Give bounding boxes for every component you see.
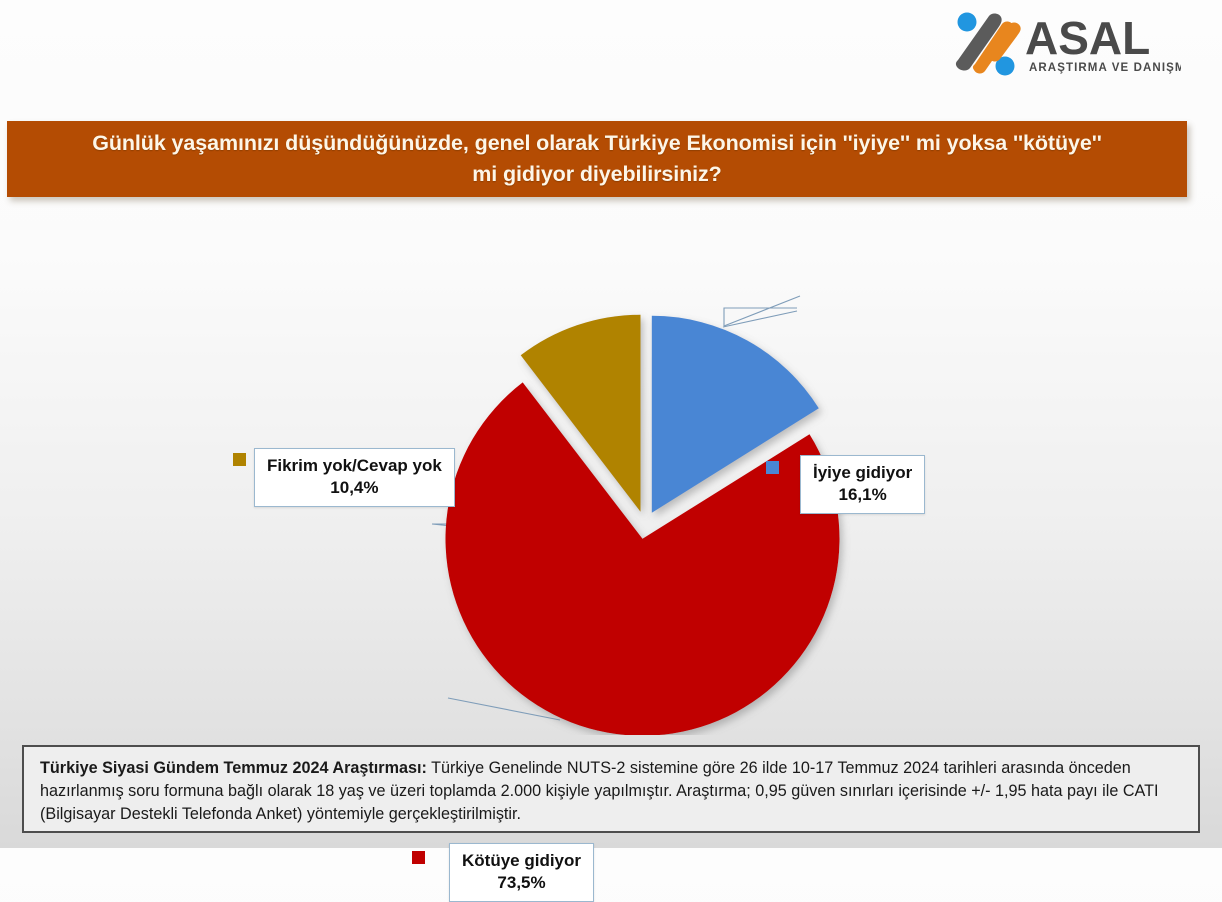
question-text: Günlük yaşamınızı düşündüğünüzde, genel … [42,128,1152,190]
callout-bad-value: 73,5% [462,872,581,894]
asal-logo: ASAL ARAŞTIRMA VE DANIŞMANLIK [945,8,1181,80]
pie-chart-region: Fikrim yok/Cevap yok 10,4% İyiye gidiyor… [0,200,1222,735]
logo-wordmark: ASAL [1025,12,1150,64]
callout-dontknow: Fikrim yok/Cevap yok 10,4% [254,448,455,507]
legend-marker-good [766,461,779,474]
asal-logo-svg: ASAL ARAŞTIRMA VE DANIŞMANLIK [945,8,1181,80]
logo-tagline: ARAŞTIRMA VE DANIŞMANLIK [1029,62,1181,74]
callout-bad: Kötüye gidiyor 73,5% [449,843,594,902]
callout-good-label: İyiye gidiyor [813,463,912,482]
question-banner: Günlük yaşamınızı düşündüğünüzde, genel … [7,121,1187,197]
methodology-lead: Türkiye Siyasi Gündem Temmuz 2024 Araştı… [40,759,427,777]
callout-dontknow-label: Fikrim yok/Cevap yok [267,456,442,475]
methodology-note: Türkiye Siyasi Gündem Temmuz 2024 Araştı… [22,745,1200,833]
legend-marker-bad [412,851,425,864]
legend-marker-dontknow [233,453,246,466]
pie-chart-svg [0,200,1222,735]
callout-good: İyiye gidiyor 16,1% [800,455,925,514]
callout-dontknow-value: 10,4% [267,477,442,499]
callout-bad-label: Kötüye gidiyor [462,851,581,870]
logo-mark [956,13,1021,76]
leader-line-good [723,296,800,327]
callout-good-value: 16,1% [813,484,912,506]
pie-slice-bad[interactable] [445,382,839,735]
